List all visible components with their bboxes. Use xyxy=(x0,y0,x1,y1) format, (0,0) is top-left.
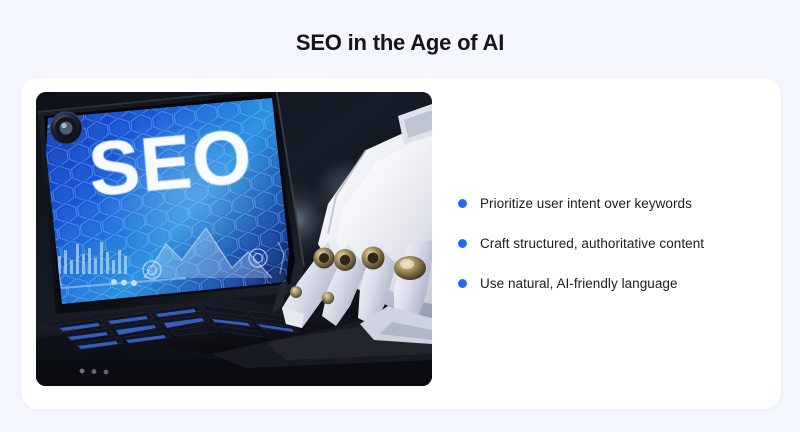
laptop-screen: SEO SEO xyxy=(36,92,316,322)
key-points-list: Prioritize user intent over keywords Cra… xyxy=(458,195,768,292)
seo-robot-laptop-illustration: SEO SEO xyxy=(36,92,432,386)
bullet-dot-icon xyxy=(458,199,467,208)
bullet-dot-icon xyxy=(458,239,467,248)
screen-seo-text: SEO SEO xyxy=(85,114,255,213)
list-item: Craft structured, authoritative content xyxy=(458,235,768,252)
list-item: Prioritize user intent over keywords xyxy=(458,195,768,212)
svg-text:SEO: SEO xyxy=(85,114,255,213)
list-item-label: Prioritize user intent over keywords xyxy=(480,195,692,212)
bullet-dot-icon xyxy=(458,279,467,288)
page-title: SEO in the Age of AI xyxy=(0,28,800,58)
content-card: SEO SEO xyxy=(21,78,781,409)
seo-robot-laptop-image: SEO SEO xyxy=(36,92,432,386)
laptop-webcam xyxy=(50,112,82,144)
list-item-label: Use natural, AI-friendly language xyxy=(480,275,678,292)
list-item-label: Craft structured, authoritative content xyxy=(480,235,704,252)
list-item: Use natural, AI-friendly language xyxy=(458,275,768,292)
